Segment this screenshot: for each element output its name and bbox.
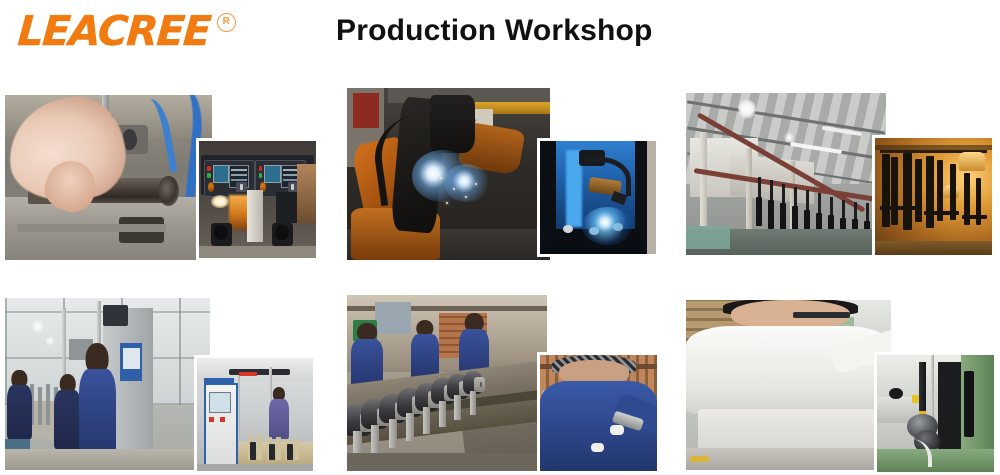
panel-4 xyxy=(5,298,315,473)
panel-2 xyxy=(347,88,659,263)
worker-figure xyxy=(54,374,81,450)
photo-robotic-welding-cell[interactable] xyxy=(347,88,550,260)
photo-clamp-fixture-closeup[interactable] xyxy=(874,352,997,475)
panel-6 xyxy=(686,300,995,473)
photo-robot-welding-closeup[interactable] xyxy=(537,138,659,257)
worker-figure xyxy=(269,387,289,439)
photo-tube-cutting-station[interactable] xyxy=(5,95,212,260)
panel-3 xyxy=(686,93,995,258)
photo-cnc-control-panels[interactable] xyxy=(196,138,319,261)
panel-5 xyxy=(347,295,660,473)
photo-worker-inspecting-part[interactable] xyxy=(537,352,660,474)
worker-figure xyxy=(7,370,32,439)
panel-1 xyxy=(5,95,315,260)
photo-curing-oven-interior[interactable] xyxy=(872,135,995,258)
photo-green-test-machine[interactable] xyxy=(686,300,891,470)
photo-paint-coating-line[interactable] xyxy=(686,93,886,255)
photo-assembly-cell-workers[interactable] xyxy=(5,298,210,470)
photo-automated-test-rig[interactable] xyxy=(194,355,316,474)
worker-figure xyxy=(79,343,116,463)
production-workshop-gallery xyxy=(0,0,1000,473)
photo-shock-absorber-conveyor[interactable] xyxy=(347,295,547,471)
